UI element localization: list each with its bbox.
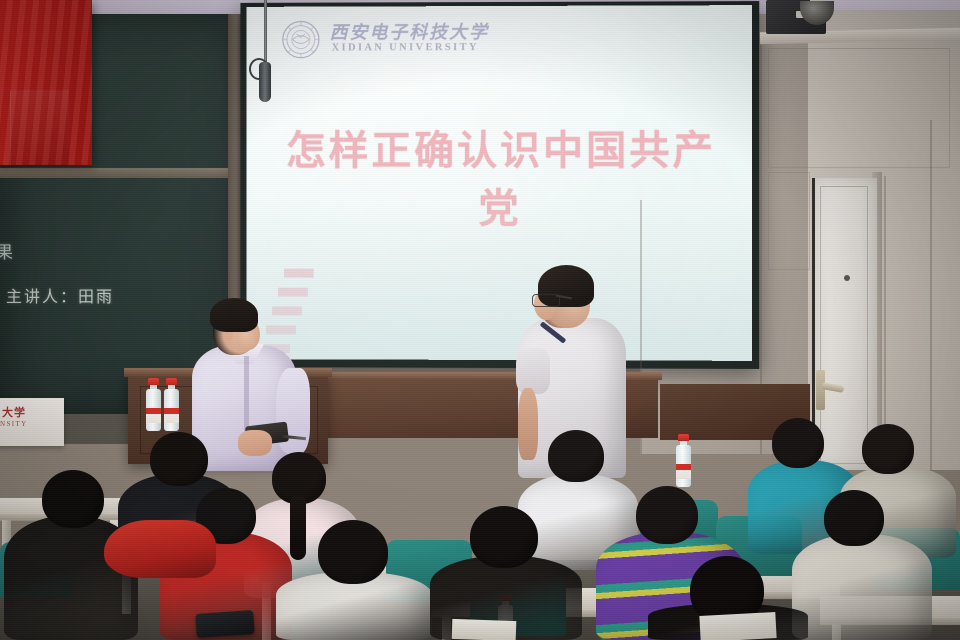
- audience: [0, 0, 960, 640]
- smartphone[interactable]: [195, 610, 255, 638]
- notebook: [699, 612, 776, 640]
- lecture-hall-photo: 果 主讲人：田雨 西安电子科技大学 XIDIAN UNIVERSIT: [0, 0, 960, 640]
- notebook: [452, 619, 517, 640]
- draped-red-jacket: [104, 520, 216, 578]
